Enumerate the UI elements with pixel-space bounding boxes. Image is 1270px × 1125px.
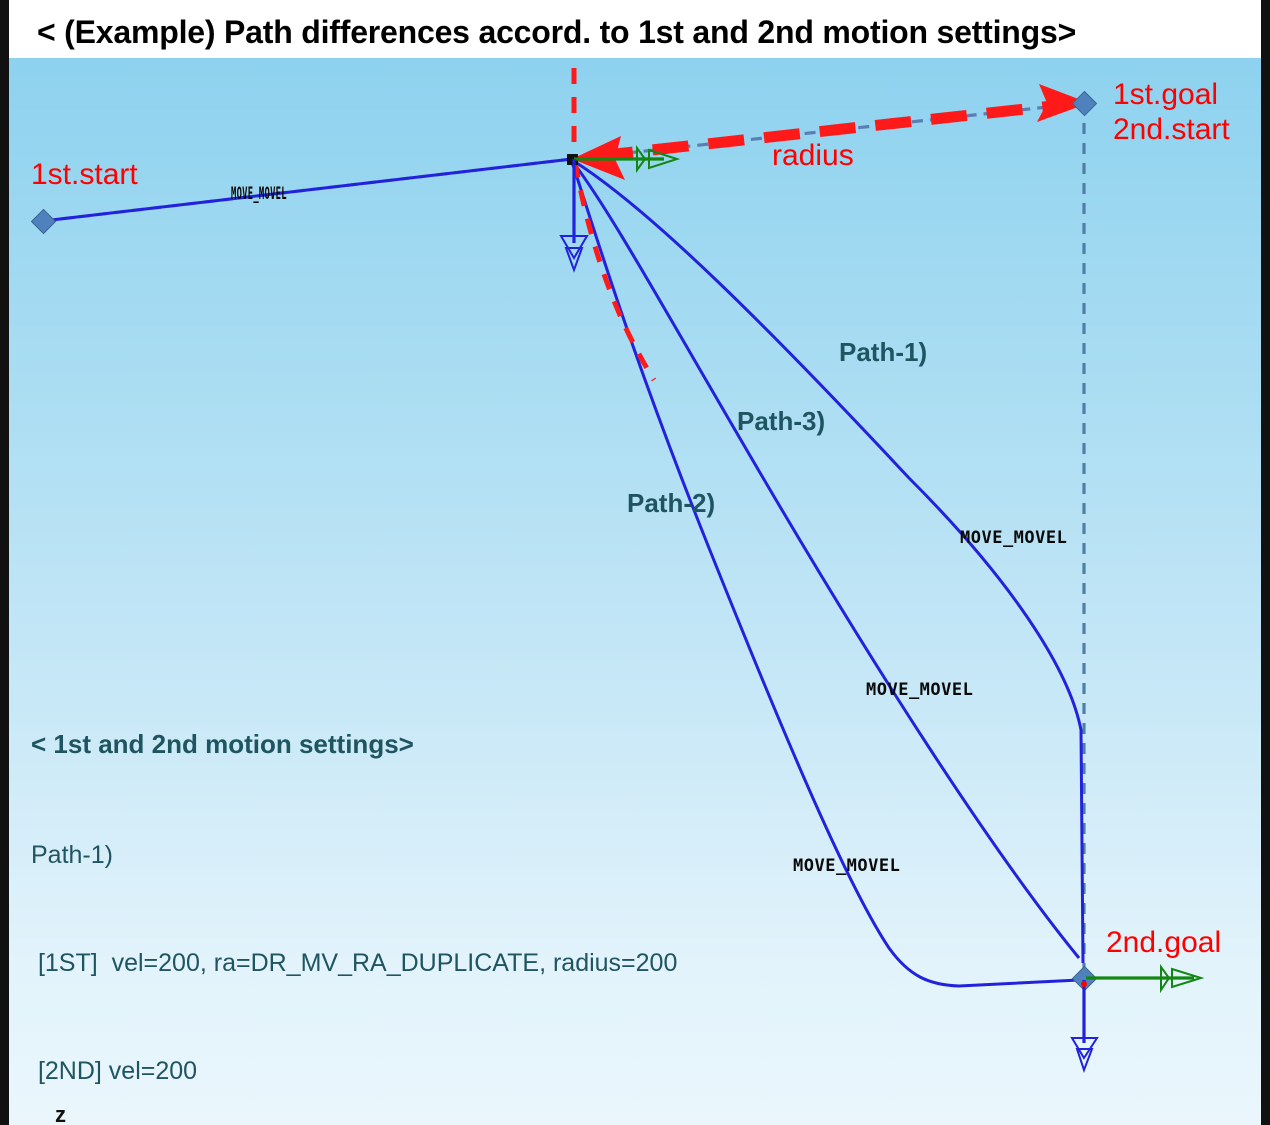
settings-path-1-second: [2ND] vel=200 [31, 1053, 677, 1089]
settings-title: < 1st and 2nd motion settings> [31, 726, 677, 763]
first-goal-marker [1072, 91, 1096, 115]
path-segment-start [43, 159, 572, 221]
settings-path-1-name: Path-1) [31, 837, 677, 873]
settings-path-1-first: [1ST] vel=200, ra=DR_MV_RA_DUPLICATE, ra… [31, 945, 677, 981]
slide-frame: < (Example) Path differences accord. to … [0, 0, 1270, 1125]
axis-label-z: z [55, 1102, 66, 1124]
diagram-canvas: 1st.start 1st.goal 2nd.start radius 2nd.… [9, 58, 1261, 1125]
title-band: < (Example) Path differences accord. to … [9, 0, 1261, 58]
junction-frame-axes [561, 148, 677, 270]
page-title: < (Example) Path differences accord. to … [37, 14, 1076, 51]
motion-settings-block: < 1st and 2nd motion settings> Path-1) [… [31, 654, 677, 1125]
start-point-marker [31, 209, 55, 233]
